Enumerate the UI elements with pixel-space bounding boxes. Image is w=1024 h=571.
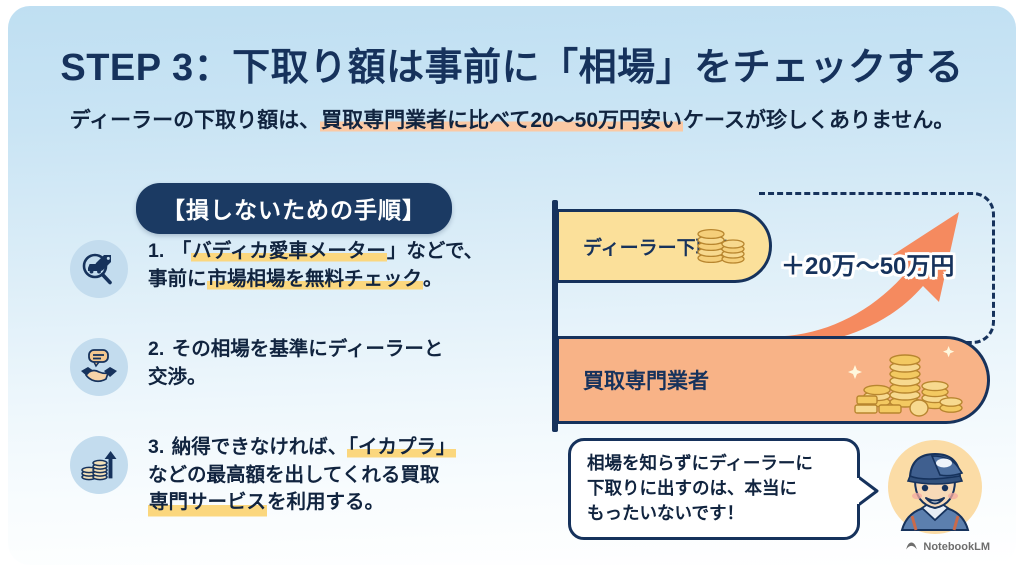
list-item-text: 2. その相場を基準にディーラーと 交渉。	[148, 336, 540, 391]
page-title: STEP 3：下取り額は事前に「相場」をチェックする	[8, 36, 1016, 91]
slide-canvas: STEP 3：下取り額は事前に「相場」をチェックする ディーラーの下取り額は、買…	[8, 6, 1016, 565]
gold-pile-icon	[847, 342, 963, 418]
callout-line-3: もったいないです！	[587, 501, 843, 526]
steps-list: 1. 「バディカ愛車メーター」などで、 事前に市場相場を無料チェック。 2.	[70, 238, 540, 532]
watermark-label: NotebookLM	[923, 541, 990, 553]
step3-line2: などの最高額を出してくれる買取	[148, 462, 439, 490]
subtitle: ディーラーの下取り額は、買取専門業者に比べて20〜50万円安いケースが珍しくあり…	[8, 104, 1016, 134]
speech-bubble: 相場を知らずにディーラーに 下取りに出すのは、本当に もったいないです！	[568, 438, 860, 540]
section-badge: 【損しないための手順】	[136, 183, 452, 234]
step1-line1-highlight: バディカ愛車メーター	[191, 240, 387, 262]
step3-line1-pre: 納得できなければ、	[172, 436, 348, 458]
list-item-text: 1. 「バディカ愛車メーター」などで、 事前に市場相場を無料チェック。	[148, 238, 540, 293]
comparison-bar-chart: ディーラー下取り 買取専門業者	[543, 192, 998, 440]
subtitle-pre: ディーラーの下取り額は、	[70, 109, 321, 132]
step1-line2-post: 。	[423, 268, 443, 290]
bar-buyout-specialist: 買取専門業者	[556, 336, 990, 424]
subtitle-highlight: 買取専門業者に比べて20〜50万円安い	[320, 109, 683, 132]
delta-annotation: ＋20万〜50万円	[781, 246, 954, 281]
step1-line2-highlight: 市場相場を無料チェック	[207, 268, 424, 290]
list-item: 2. その相場を基準にディーラーと 交渉。	[70, 336, 540, 424]
step1-line2-pre: 事前に	[148, 266, 207, 294]
small-coins-icon	[691, 224, 747, 268]
avatar	[884, 436, 986, 538]
handshake-icon	[70, 338, 128, 396]
list-item-number: 3.	[148, 436, 164, 458]
list-item: 1. 「バディカ愛車メーター」などで、 事前に市場相場を無料チェック。	[70, 238, 540, 326]
step1-line1-post: 」などで、	[387, 240, 483, 262]
step3-line1-highlight: 「イカプラ」	[347, 436, 456, 458]
speech-bubble-tail	[857, 474, 879, 508]
list-item-text: 3. 納得できなければ、「イカプラ」 などの最高額を出してくれる買取 専門サービ…	[148, 434, 540, 517]
coins-up-arrow-icon	[70, 436, 128, 494]
notebooklm-logo-icon	[905, 540, 918, 553]
car-magnifier-icon	[70, 240, 128, 298]
list-item: 3. 納得できなければ、「イカプラ」 などの最高額を出してくれる買取 専門サービ…	[70, 434, 540, 522]
step2-line2: 交渉。	[148, 364, 207, 392]
bar-label-kaitori: 買取専門業者	[583, 365, 709, 395]
step3-line3-post: を利用する。	[267, 491, 384, 513]
list-item-number: 2.	[148, 338, 164, 360]
callout-line-2: 下取りに出すのは、本当に	[587, 476, 843, 501]
bar-dealer-trade-in: ディーラー下取り	[556, 209, 772, 283]
list-item-number: 1.	[148, 240, 164, 262]
step3-line3-highlight: 専門サービス	[148, 489, 267, 517]
callout-line-1: 相場を知らずにディーラーに	[587, 451, 843, 476]
subtitle-post: ケースが珍しくありません。	[683, 109, 954, 132]
step1-line1-pre: 「	[172, 240, 192, 262]
step2-line1: その相場を基準にディーラーと	[172, 338, 444, 360]
watermark: NotebookLM	[905, 540, 990, 553]
